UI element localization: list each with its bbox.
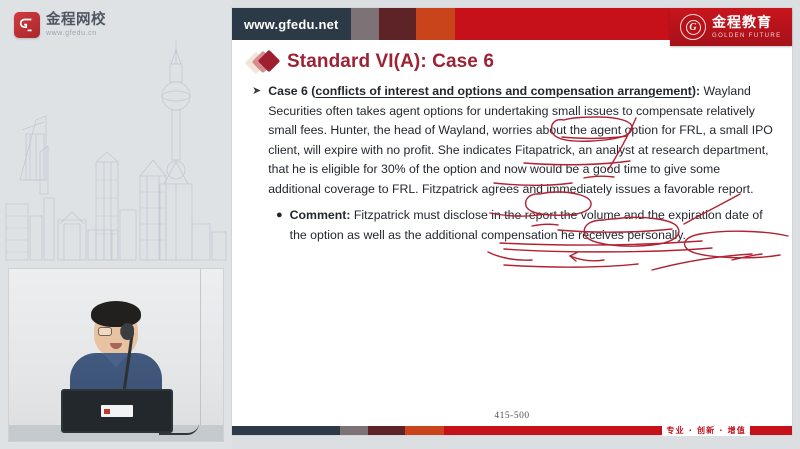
footer-bar-orange bbox=[405, 426, 444, 435]
case-bullet-block: ➤ Case 6 (conflicts of interest and opti… bbox=[252, 82, 774, 199]
case-label-close: ): bbox=[692, 84, 700, 98]
desk-monitor bbox=[61, 389, 173, 433]
case-label-underline: conflicts of interest and options and co… bbox=[315, 84, 691, 98]
slide-footer: 415-500 专业 · 创新 · 增值 bbox=[232, 426, 792, 435]
footer-bar-maroon bbox=[368, 426, 405, 435]
shanghai-skyline-watermark bbox=[0, 34, 232, 266]
comment-body-text: Fitzpatrick must disclose in the report … bbox=[290, 208, 763, 242]
desk-cable bbox=[159, 423, 199, 435]
arrow-bullet-icon: ➤ bbox=[252, 82, 261, 199]
comment-paragraph: Comment: Fitzpatrick must disclose in th… bbox=[290, 206, 774, 245]
case-body-text: Wayland Securities often takes agent opt… bbox=[268, 84, 773, 196]
comment-bullet-block: ● Comment: Fitzpatrick must disclose in … bbox=[252, 206, 774, 245]
monitor-sticker bbox=[101, 405, 133, 417]
dot-bullet-icon: ● bbox=[276, 206, 283, 245]
gfedu-logo: G 金程教育 GOLDEN FUTURE bbox=[670, 8, 792, 46]
case-paragraph: Case 6 (conflicts of interest and option… bbox=[268, 82, 774, 199]
footer-bar-navy bbox=[232, 426, 340, 435]
header-color-bar-maroon bbox=[379, 8, 416, 40]
seal-letter: G bbox=[689, 22, 696, 33]
screen-root: 金程网校 www.gfedu.cn bbox=[0, 0, 800, 449]
left-panel: 金程网校 www.gfedu.cn bbox=[0, 0, 232, 449]
header-color-bar-orange bbox=[416, 8, 455, 40]
seal-icon: G bbox=[680, 14, 706, 40]
logo-name-cn: 金程教育 bbox=[712, 16, 782, 30]
diamond-bullet-icon bbox=[248, 51, 278, 73]
case-label-bold: Case 6 ( bbox=[268, 84, 315, 98]
page-title: Standard VI(A): Case 6 bbox=[287, 51, 494, 73]
slide-body: ➤ Case 6 (conflicts of interest and opti… bbox=[232, 73, 792, 245]
presentation-slide: www.gfedu.net G 金程教育 GOLDEN FUTURE Stand… bbox=[232, 8, 792, 435]
microphone-icon bbox=[121, 323, 134, 340]
footer-bar-gray bbox=[340, 426, 368, 435]
brand-name: 金程网校 bbox=[46, 13, 106, 28]
slide-header: www.gfedu.net G 金程教育 GOLDEN FUTURE bbox=[232, 8, 792, 40]
wall-edge bbox=[200, 269, 201, 441]
presenter-video[interactable] bbox=[8, 268, 224, 442]
presenter-hair bbox=[91, 301, 141, 327]
slide-url-label: www.gfedu.net bbox=[232, 8, 351, 40]
footer-slogan: 专业 · 创新 · 增值 bbox=[662, 425, 750, 436]
header-color-bar-gray bbox=[351, 8, 379, 40]
page-number: 415-500 bbox=[232, 411, 792, 421]
logo-name-en: GOLDEN FUTURE bbox=[712, 33, 782, 39]
comment-label: Comment: bbox=[290, 208, 351, 222]
presenter-mouth bbox=[110, 343, 122, 349]
